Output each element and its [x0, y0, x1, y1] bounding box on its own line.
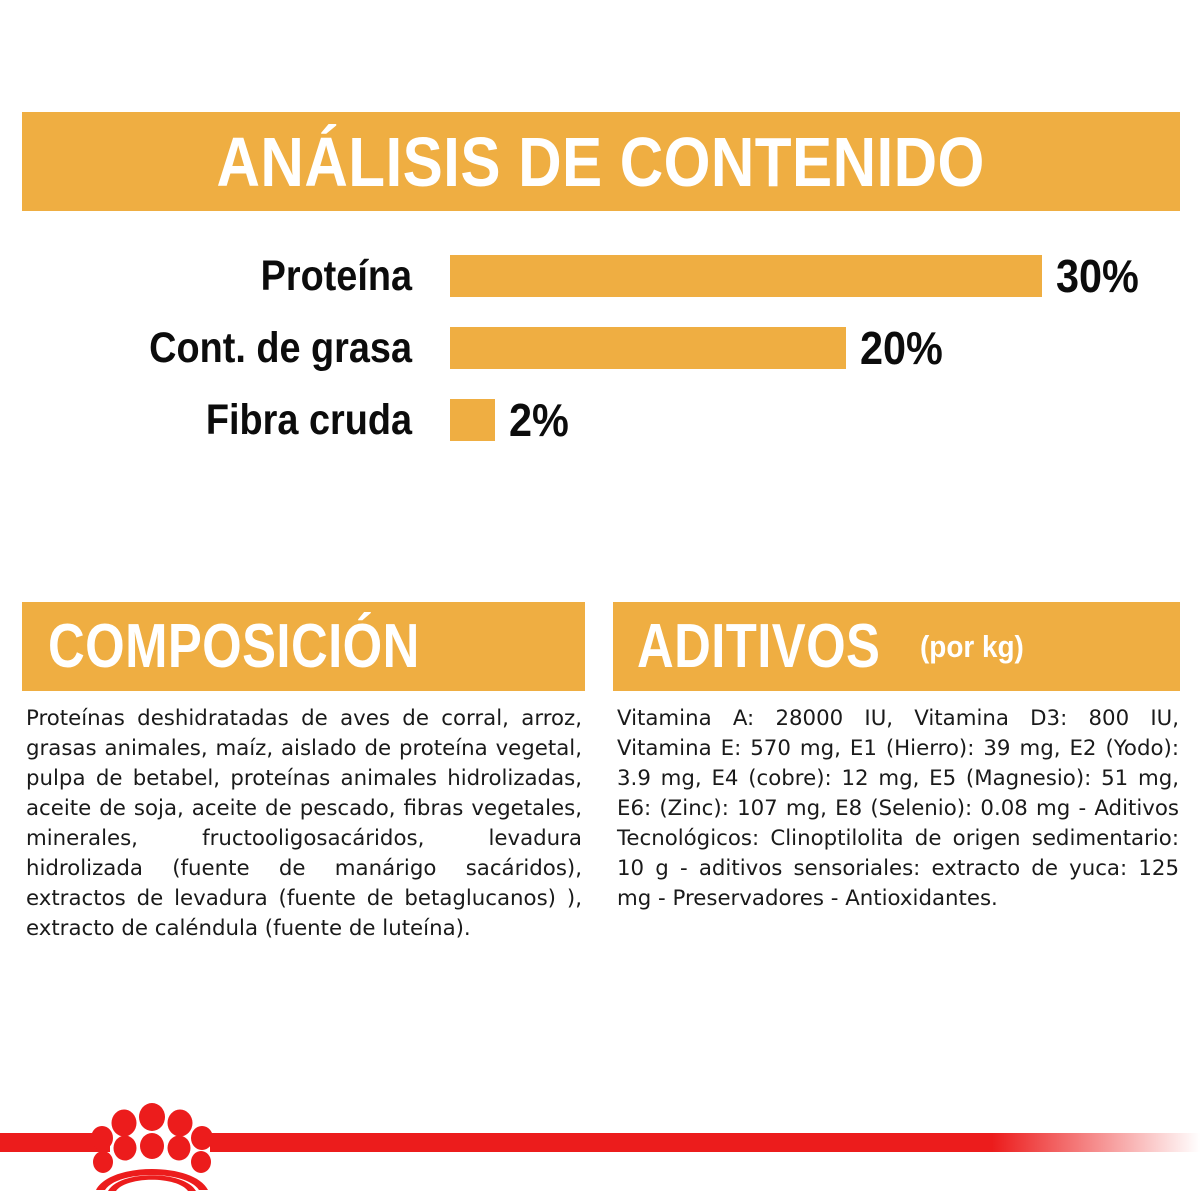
chart-bar-fat [450, 327, 846, 369]
chart-label-fat: Cont. de grasa [49, 327, 412, 370]
analysis-section-banner: ANÁLISIS DE CONTENIDO [22, 112, 1180, 211]
chart-bar-wrap-fat: 20% [450, 325, 1200, 371]
chart-value-fiber: 2% [509, 397, 569, 443]
composition-section-banner: COMPOSICIÓN [22, 602, 585, 691]
nutrient-analysis-chart: Proteína 30% Cont. de grasa 20% Fibra cr… [0, 240, 1200, 470]
royal-canin-crown-icon [92, 1100, 212, 1192]
chart-bar-wrap-protein: 30% [450, 253, 1200, 299]
chart-label-fiber: Fibra cruda [49, 399, 412, 442]
composition-section-title: COMPOSICIÓN [48, 616, 420, 678]
chart-bar-wrap-fiber: 2% [450, 397, 1200, 443]
additives-section-title: ADITIVOS [637, 616, 880, 678]
chart-bar-fiber [450, 399, 495, 441]
chart-label-protein: Proteína [49, 255, 412, 298]
analysis-section-title: ANÁLISIS DE CONTENIDO [217, 127, 985, 197]
brand-rule-right [210, 1133, 1200, 1152]
brand-footer [0, 1106, 1200, 1200]
chart-value-fat: 20% [860, 325, 943, 371]
additives-section-subtitle: (por kg) [920, 631, 1024, 662]
composition-body-text: Proteínas deshidratadas de aves de corra… [26, 704, 582, 944]
chart-row-fiber: Fibra cruda 2% [0, 384, 1200, 456]
chart-row-protein: Proteína 30% [0, 240, 1200, 312]
chart-row-fat: Cont. de grasa 20% [0, 312, 1200, 384]
additives-section-banner: ADITIVOS (por kg) [613, 602, 1180, 691]
chart-value-protein: 30% [1056, 253, 1139, 299]
additives-body-text: Vitamina A: 28000 IU, Vitamina D3: 800 I… [617, 704, 1179, 914]
chart-bar-protein [450, 255, 1042, 297]
